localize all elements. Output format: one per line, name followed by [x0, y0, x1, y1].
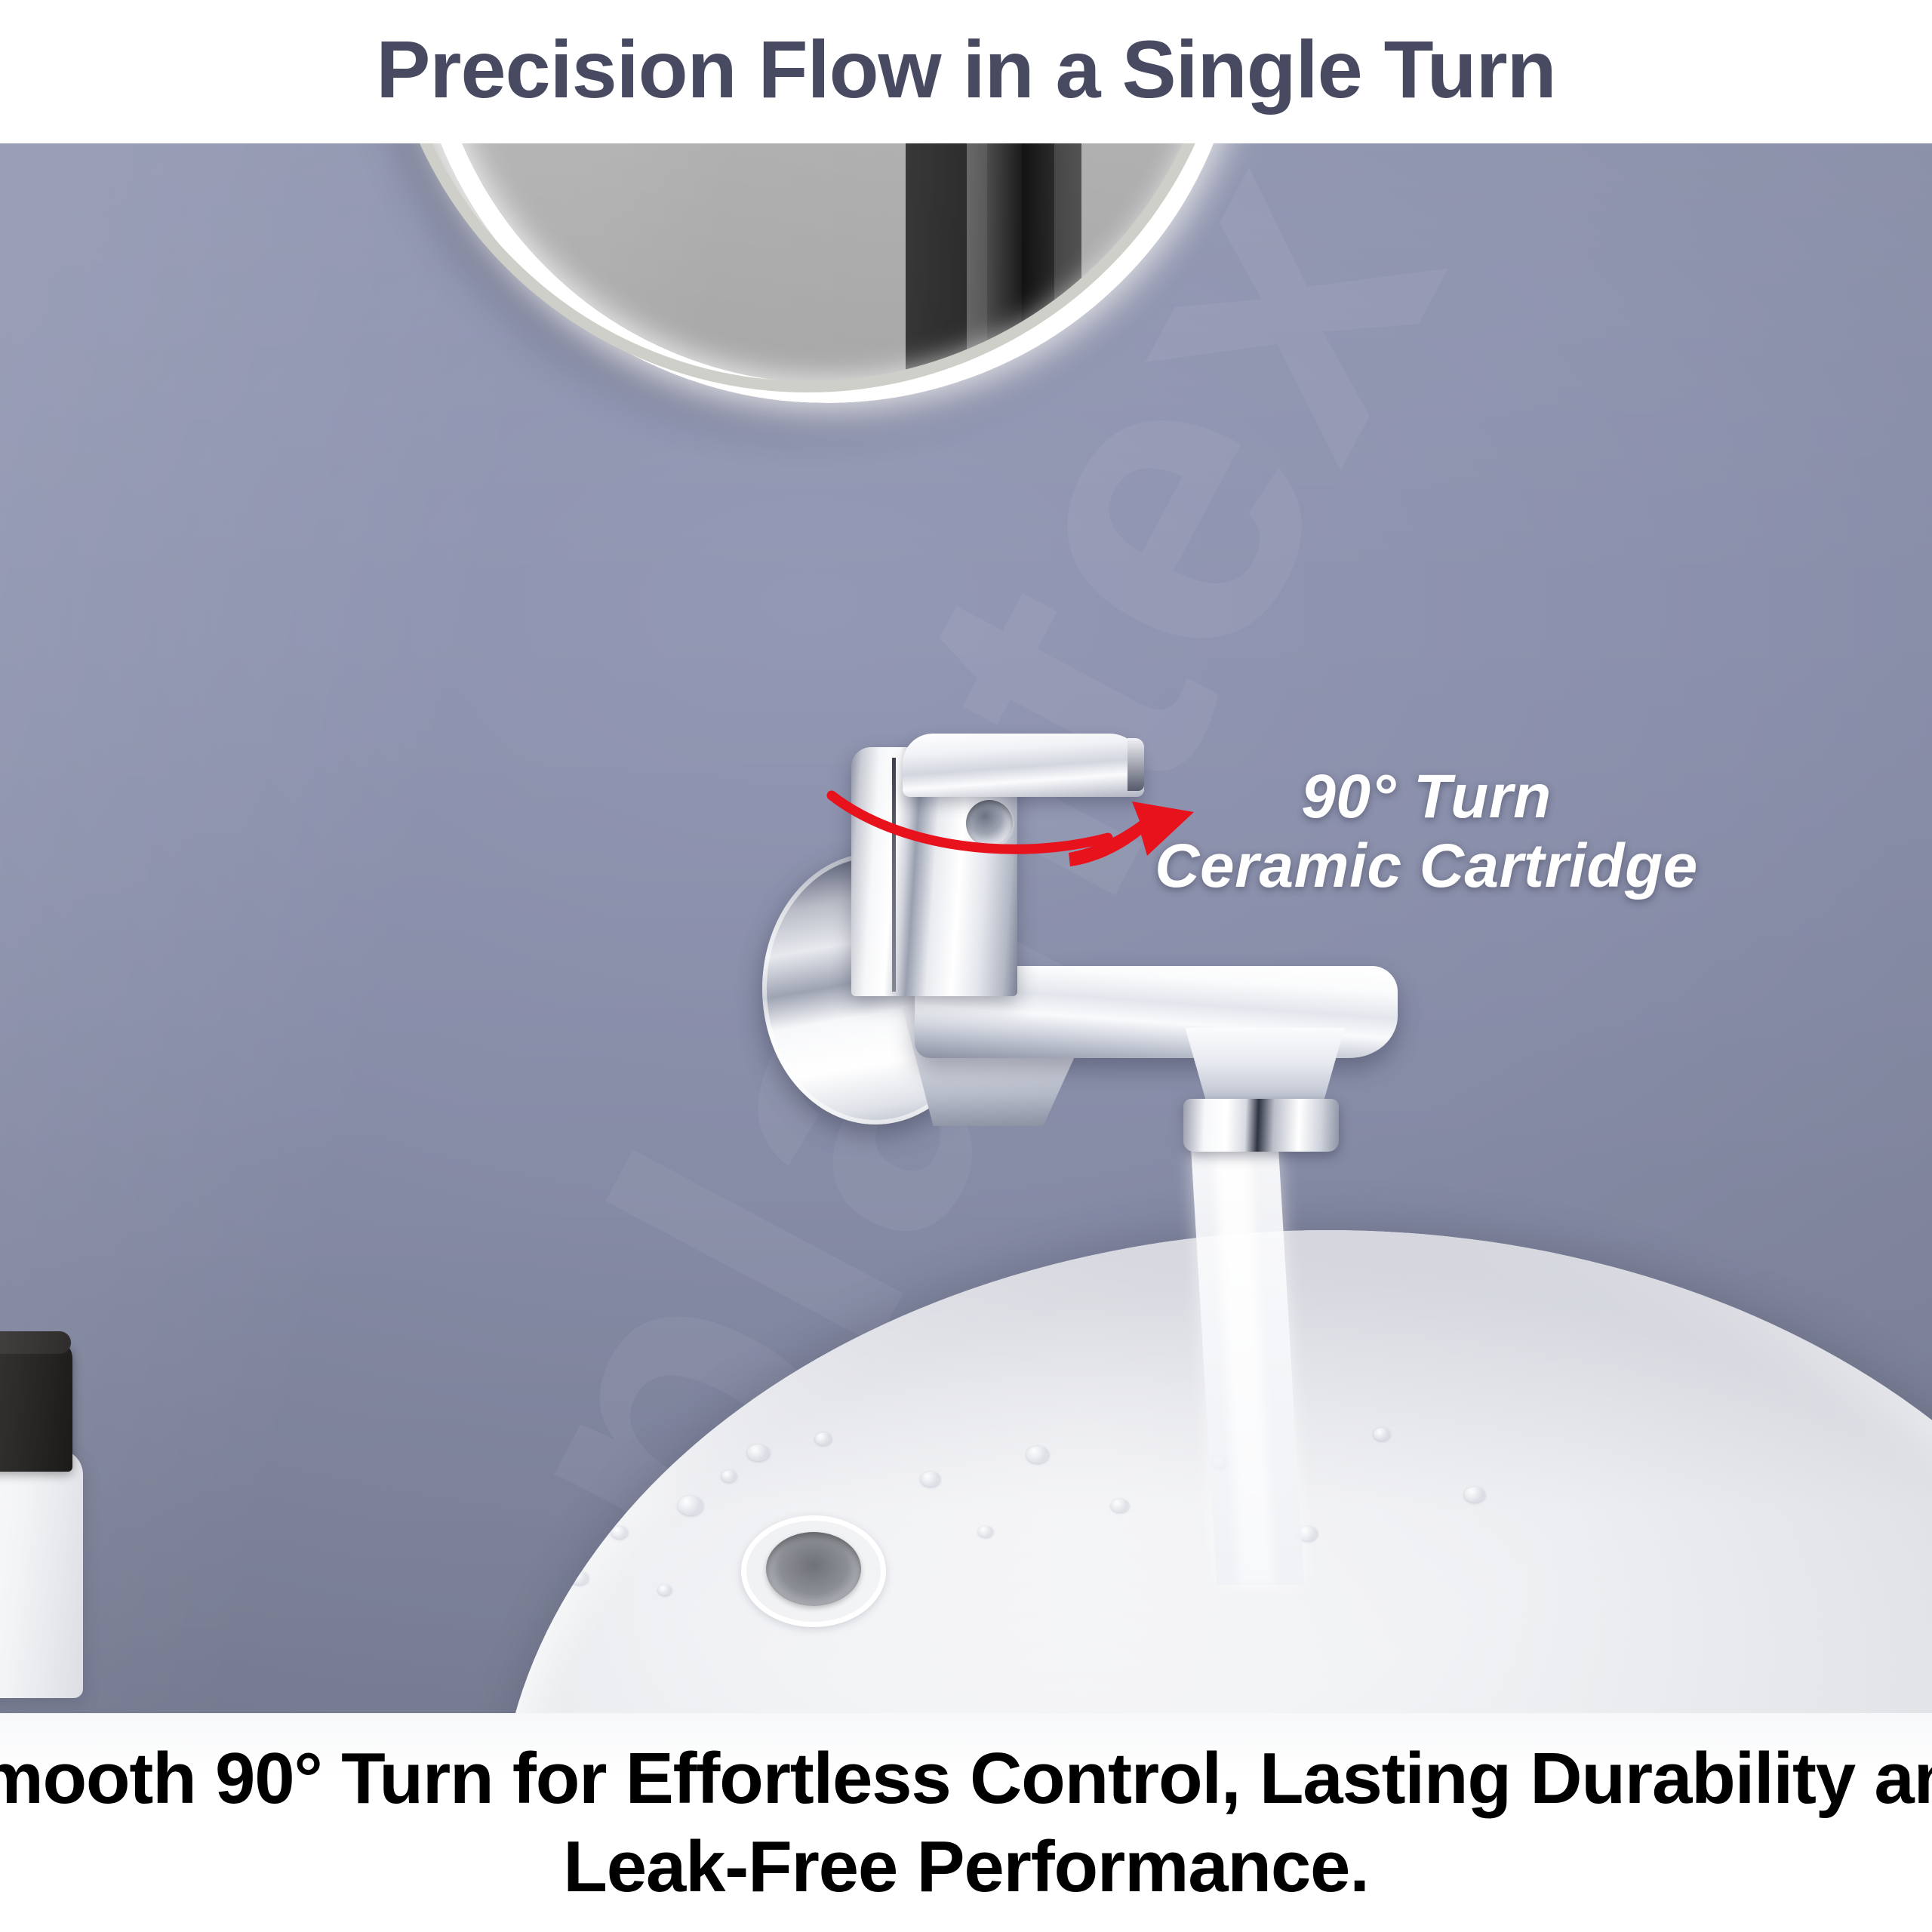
caption-line-2: Leak-Free Performance. [563, 1823, 1368, 1911]
faucet-aerator [1183, 1099, 1339, 1152]
water-droplet [571, 1571, 589, 1585]
water-droplet [1374, 1428, 1390, 1441]
water-droplet [747, 1444, 770, 1461]
water-droplet [658, 1585, 672, 1595]
callout-line-1: 90° Turn [1155, 762, 1698, 832]
water-droplet [1026, 1446, 1049, 1463]
water-droplet [815, 1432, 832, 1445]
product-scene: plantex [0, 113, 1932, 1743]
product-feature-card: plantex [0, 0, 1932, 1932]
headline-band: Precision Flow in a Single Turn [0, 0, 1932, 143]
water-droplet [678, 1496, 703, 1515]
water-droplet [921, 1472, 940, 1487]
bottle-body [0, 1449, 83, 1698]
caption-band: Smooth 90° Turn for Effortless Control, … [0, 1713, 1932, 1932]
soap-dispenser-bottle [0, 1343, 83, 1698]
water-droplet [1111, 1499, 1129, 1512]
round-led-mirror [381, 113, 1234, 392]
page-title: Precision Flow in a Single Turn [376, 29, 1555, 110]
water-droplet [611, 1526, 628, 1539]
basin-overflow-hole [766, 1532, 861, 1606]
bottle-cap [0, 1339, 72, 1472]
water-droplet [978, 1526, 993, 1537]
caption-line-1: Smooth 90° Turn for Effortless Control, … [0, 1734, 1932, 1823]
water-droplet [1464, 1487, 1485, 1503]
callout-line-2: Ceramic Cartridge [1155, 832, 1698, 901]
bottle-cap-top [0, 1331, 71, 1354]
water-droplet [721, 1470, 737, 1482]
feature-callout: 90° Turn Ceramic Cartridge [1155, 762, 1698, 901]
water-droplet [641, 1457, 661, 1472]
